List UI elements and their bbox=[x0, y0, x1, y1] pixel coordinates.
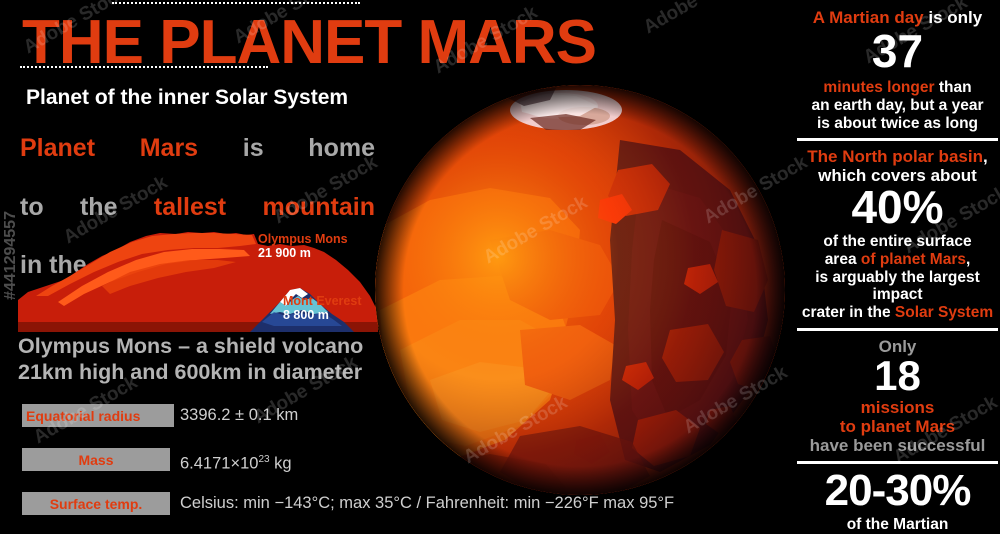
panel1-foot-line-1: minutes longer than bbox=[799, 79, 996, 97]
panel1-foot-line-3: is about twice as long bbox=[799, 115, 996, 133]
panel1-headline-rest: is only bbox=[928, 8, 982, 27]
fact-panel-missions: Only 18 missions to planet Mars have bee… bbox=[795, 337, 1000, 455]
fact-label-equatorial-radius: Equatorial radius bbox=[22, 404, 174, 427]
page-subtitle: Planet of the inner Solar System bbox=[26, 86, 348, 110]
fact-label-surface-temp: Surface temp. bbox=[22, 492, 170, 515]
lead-highlight-planet-mars: Planet Mars bbox=[20, 134, 198, 162]
olympus-mons-name: Olympus Mons bbox=[258, 232, 348, 246]
fact-panel-north-polar-basin: The North polar basin, which covers abou… bbox=[795, 147, 1000, 322]
panel2-headline-highlight: The North polar basin bbox=[807, 147, 983, 166]
panel2-foot-solar-system: Solar System bbox=[895, 304, 993, 321]
fact-panel-atmosphere: 20-30% of the Martian atmosphere freezes… bbox=[795, 470, 1000, 534]
watermark-text: Adobe Stock bbox=[640, 0, 752, 39]
mountain-caption: Olympus Mons – a shield volcano 21km hig… bbox=[18, 334, 398, 386]
fact-value-equatorial-radius: 3396.2 ± 0.1 km bbox=[180, 403, 298, 428]
lead-highlight-tallest-mountain: tallest mountain bbox=[154, 193, 375, 221]
panel2-headline-1: The North polar basin, bbox=[799, 147, 996, 166]
panel3-number: 18 bbox=[799, 356, 996, 396]
everest-height-guideline bbox=[20, 66, 268, 68]
fact-rail: A Martian day is only 37 minutes longer … bbox=[795, 0, 1000, 534]
olympus-mons-label: Olympus Mons 21 900 m bbox=[258, 232, 348, 260]
mass-unit: kg bbox=[270, 455, 292, 473]
panel2-foot-line-2: area of planet Mars, bbox=[799, 251, 996, 269]
mass-exponent: 23 bbox=[258, 454, 269, 465]
panel4-foot-line-1: of the Martian bbox=[799, 516, 996, 534]
mass-mantissa: 6.4171×10 bbox=[180, 455, 258, 473]
panel1-foot-line-2: an earth day, but a year bbox=[799, 97, 996, 115]
panel4-number: 20-30% bbox=[799, 470, 996, 512]
panel1-foot-rest: than bbox=[939, 79, 972, 96]
planet-surface-features bbox=[375, 85, 785, 500]
panel2-foot-line-3: is arguably the largest impact bbox=[799, 269, 996, 304]
mont-everest-name: Mont Everest bbox=[283, 294, 362, 308]
caption-line-2: 21km high and 600km in diameter bbox=[18, 360, 398, 386]
rail-divider-3 bbox=[797, 461, 998, 464]
mars-planet-illustration bbox=[370, 80, 790, 500]
panel1-number: 37 bbox=[799, 29, 996, 73]
panel2-number: 40% bbox=[799, 185, 996, 229]
panel2-foot-line-1: of the entire surface bbox=[799, 233, 996, 251]
rail-divider-2 bbox=[797, 328, 998, 331]
mont-everest-label: Mont Everest 8 800 m bbox=[283, 294, 362, 322]
lead-text-to-the: to the bbox=[20, 193, 117, 221]
panel1-foot-highlight: minutes longer bbox=[823, 79, 934, 96]
panel2-foot-comma: , bbox=[966, 251, 970, 268]
panel3-foot-line-3: have been successful bbox=[799, 436, 996, 455]
page-title: THE PLANET MARS bbox=[22, 12, 596, 74]
panel2-foot-line-4: crater in the Solar System bbox=[799, 304, 996, 322]
rail-divider-1 bbox=[797, 138, 998, 141]
panel2-foot-crater: crater in the bbox=[802, 304, 891, 321]
panel2-foot-highlight: of planet Mars bbox=[861, 251, 966, 268]
infographic-canvas: THE PLANET MARS Planet of the inner Sola… bbox=[0, 0, 1000, 534]
olympus-mons-value: 21 900 m bbox=[258, 246, 348, 260]
lead-text-is-home: is home bbox=[243, 134, 375, 162]
panel2-foot-area: area bbox=[825, 251, 857, 268]
fact-value-mass: 6.4171×1023 kg bbox=[180, 447, 292, 477]
mont-everest-value: 8 800 m bbox=[283, 308, 362, 322]
panel3-foot-line-2: to planet Mars bbox=[799, 417, 996, 436]
caption-line-1: Olympus Mons – a shield volcano bbox=[18, 334, 398, 360]
fact-panel-martian-day: A Martian day is only 37 minutes longer … bbox=[795, 0, 1000, 132]
lead-line-1: Planet Mars is home bbox=[20, 134, 375, 193]
olympus-height-guideline bbox=[112, 2, 360, 4]
fact-label-mass: Mass bbox=[22, 448, 170, 471]
panel2-headline-comma: , bbox=[983, 147, 988, 166]
panel3-foot-line-1: missions bbox=[799, 398, 996, 417]
